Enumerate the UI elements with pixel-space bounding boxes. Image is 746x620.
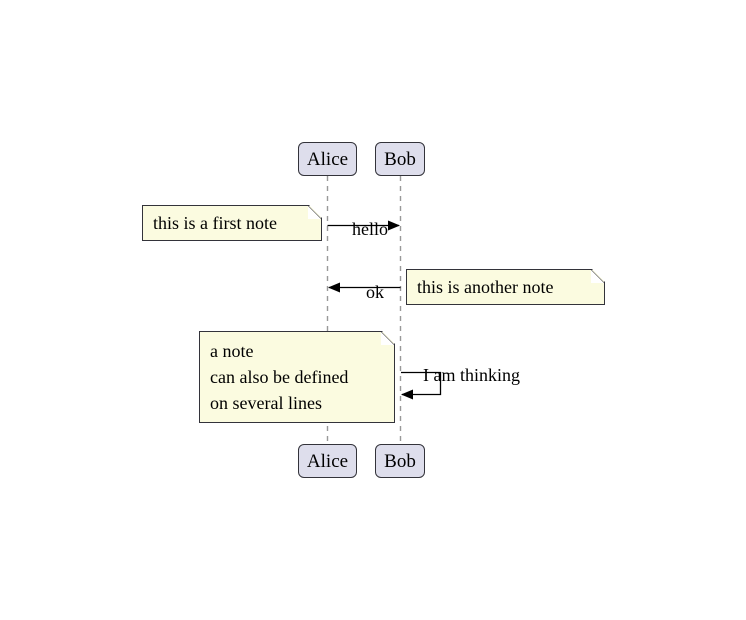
participant-box-alice-top[interactable]: Alice [298,142,357,176]
participant-label-alice-bottom: Alice [307,452,348,471]
sequence-diagram-canvas: Alice Bob this is a first note hello ok … [0,0,746,620]
message-label-hello-text: hello [352,219,388,239]
note-line: can also be defined [210,364,384,390]
note-line: a note [210,338,384,364]
participant-box-bob-bottom[interactable]: Bob [375,444,425,478]
note-line: on several lines [210,390,384,416]
participant-box-alice-bottom[interactable]: Alice [298,444,357,478]
message-label-ok-text: ok [366,282,384,302]
note-this-is-another-note[interactable]: this is another note [406,269,605,305]
message-label-hello: hello [334,202,388,256]
note-multiline[interactable]: a note can also be defined on several li… [199,331,395,423]
note-this-is-a-first-note[interactable]: this is a first note [142,205,322,241]
message-label-i-am-thinking: I am thinking [405,348,520,402]
message-label-ok: ok [348,265,384,319]
participant-label-bob-top: Bob [384,150,416,169]
participant-label-alice-top: Alice [307,150,348,169]
note-line: this is another note [417,274,594,300]
message-label-i-am-thinking-text: I am thinking [423,365,520,385]
note-line: this is a first note [153,210,311,236]
participant-box-bob-top[interactable]: Bob [375,142,425,176]
participant-label-bob-bottom: Bob [384,452,416,471]
